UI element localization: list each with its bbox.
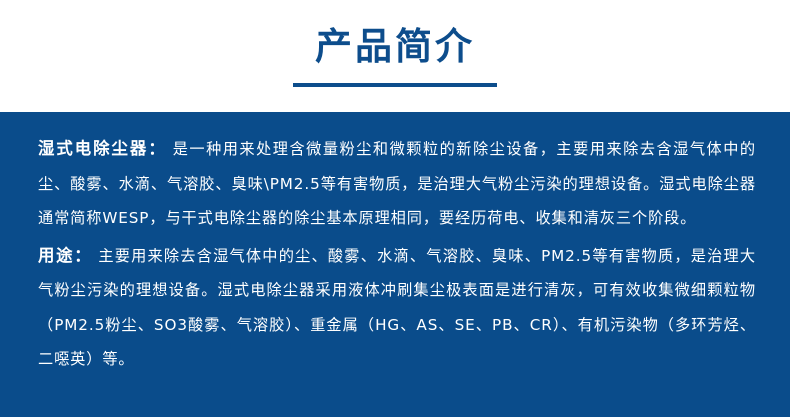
paragraph-usage: 用途：主要用来除去含湿气体中的尘、酸雾、水滴、气溶胶、臭味、PM2.5等有害物质… [38,239,756,377]
paragraph-lead-label: 湿式电除尘器： [38,139,173,158]
product-intro-page: 产品简介 湿式电除尘器：是一种用来处理含微量粉尘和微颗粒的新除尘设备，主要用来除… [0,0,790,417]
title-underline-divider [293,83,497,87]
intro-content-panel: 湿式电除尘器：是一种用来处理含微量粉尘和微颗粒的新除尘设备，主要用来除去含湿气体… [0,112,790,417]
page-title: 产品简介 [315,25,475,69]
page-header: 产品简介 [0,0,790,112]
paragraph-product-description: 湿式电除尘器：是一种用来处理含微量粉尘和微颗粒的新除尘设备，主要用来除去含湿气体… [38,132,756,236]
paragraph-lead-label: 用途： [38,246,98,265]
paragraph-body-text: 主要用来除去含湿气体中的尘、酸雾、水滴、气溶胶、臭味、PM2.5等有害物质，是治… [38,247,756,369]
